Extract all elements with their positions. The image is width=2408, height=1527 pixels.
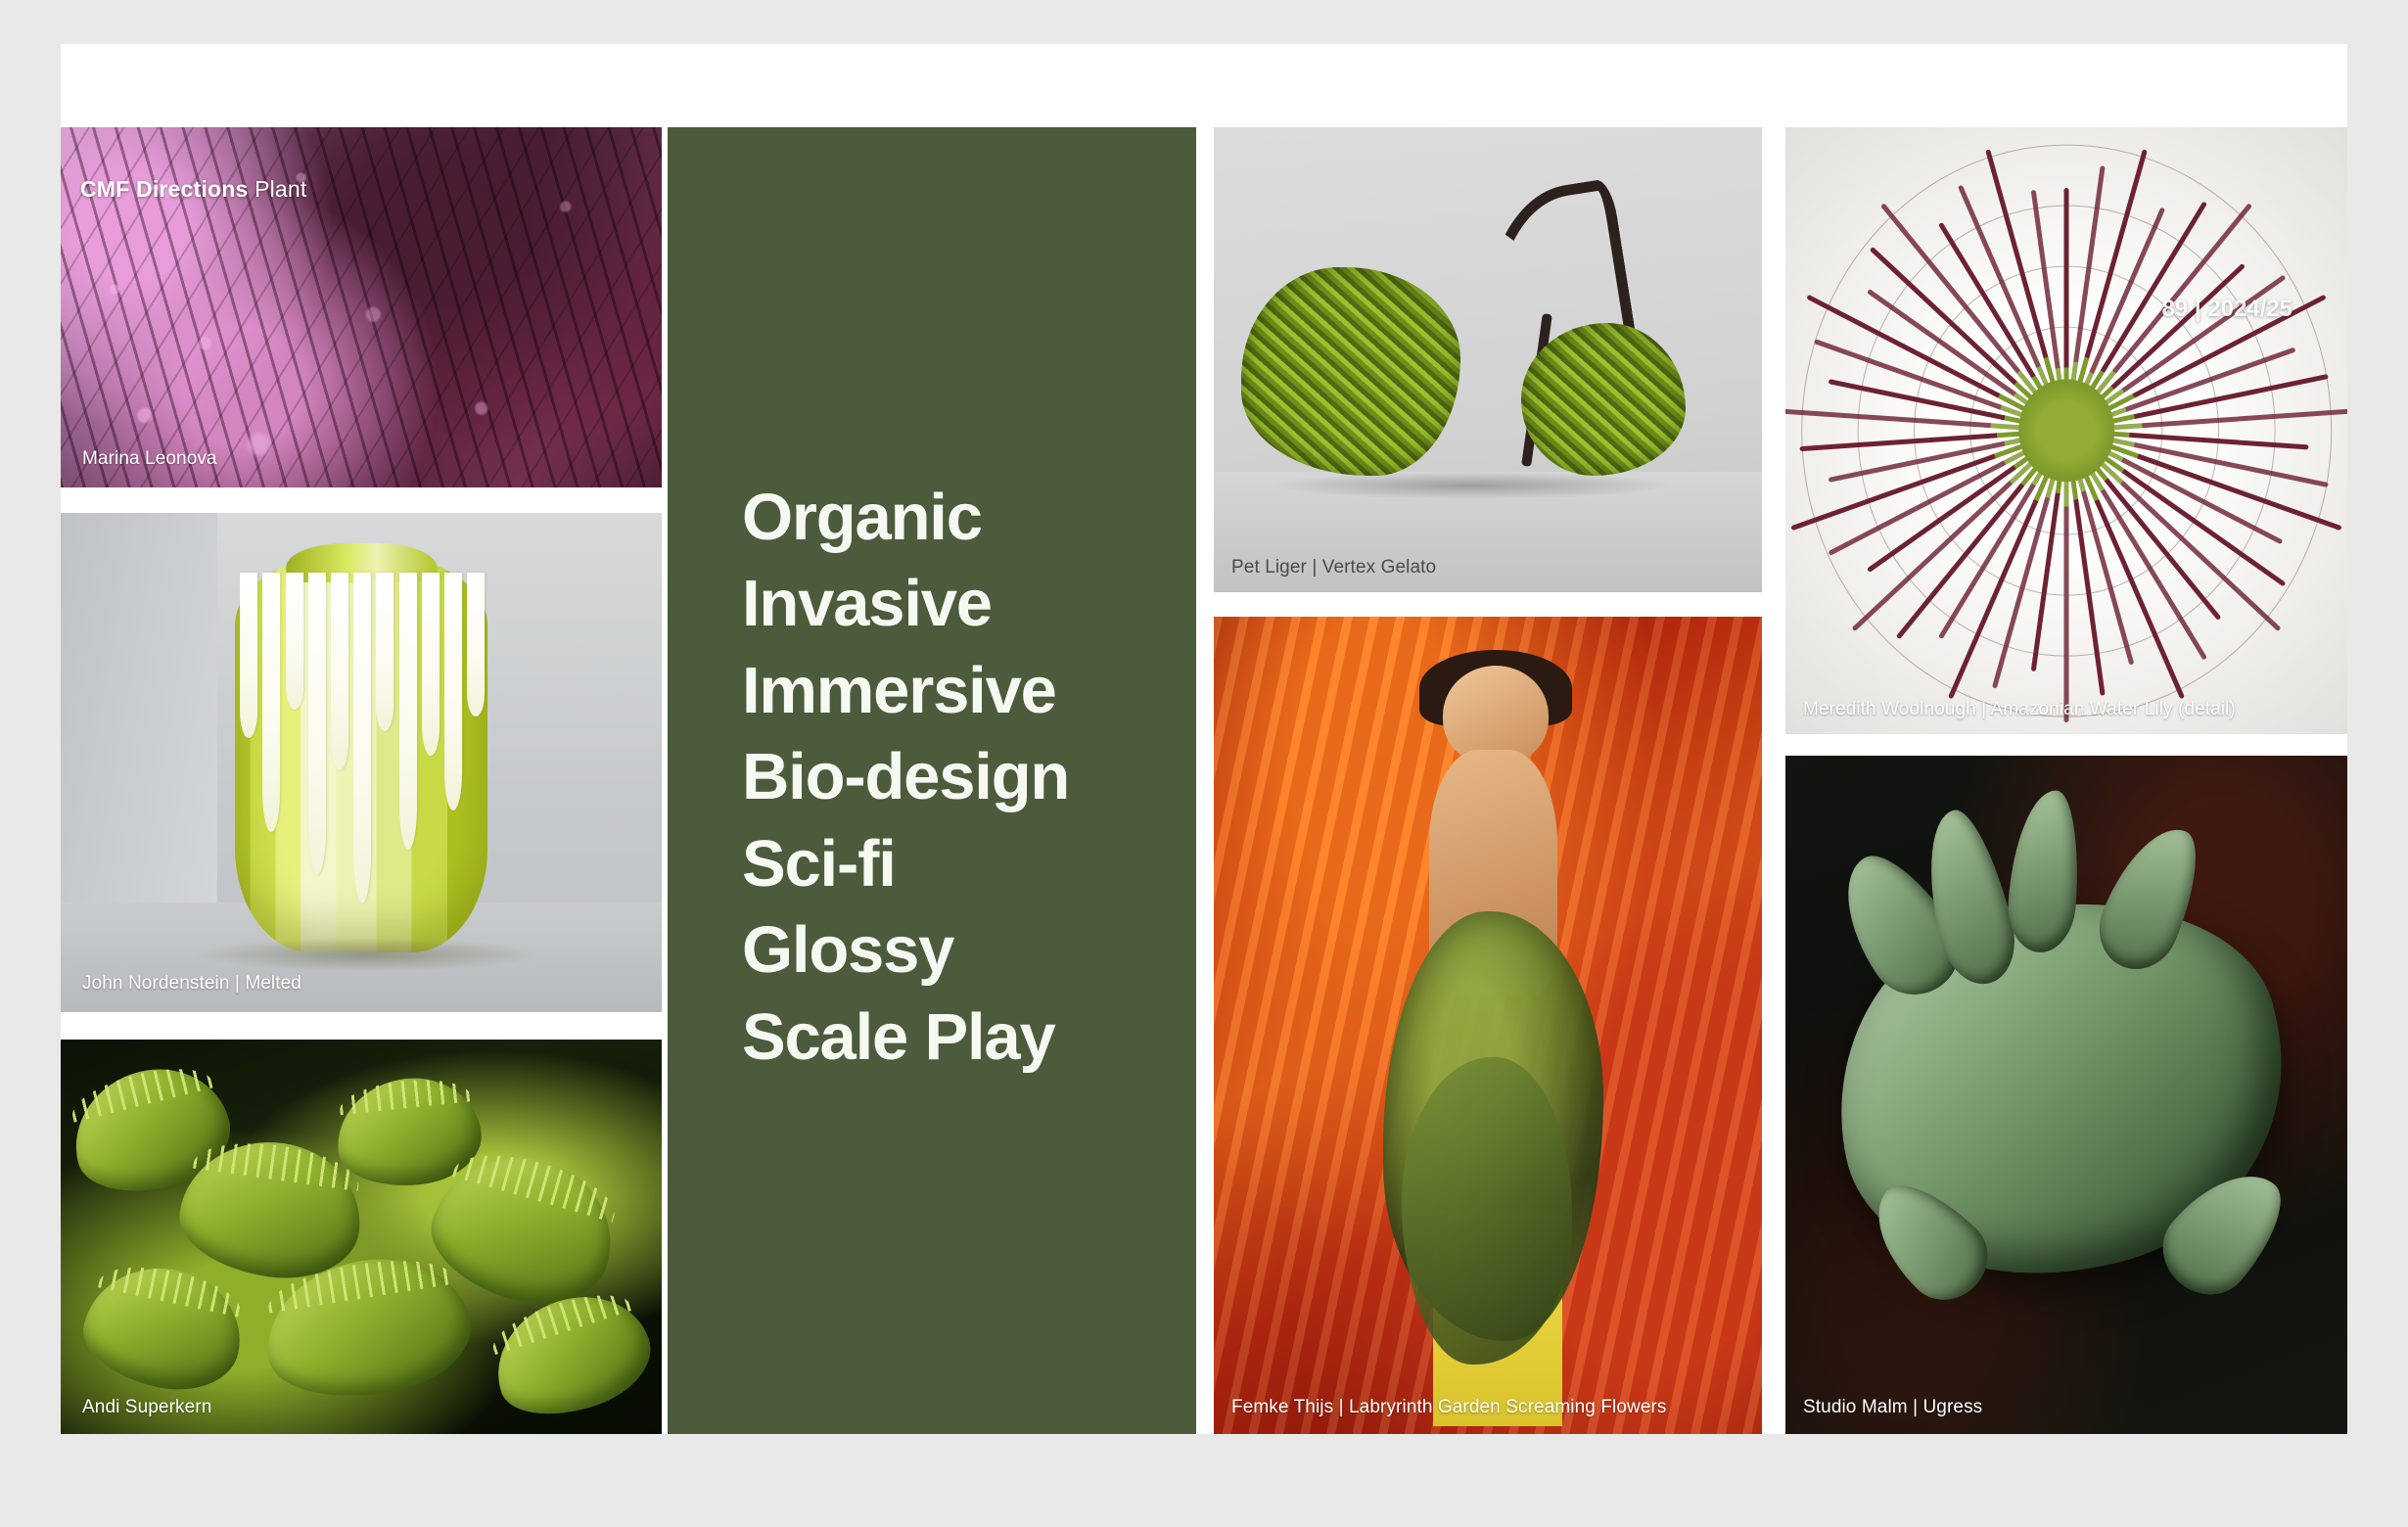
caption-water-lily-detail: Meredith Woolnough | Amazonian Water Lil… [1803,700,2347,720]
page-title-bold: CMF Directions [80,176,248,202]
caption-moss-shoe: Pet Liger | Vertex Gelato [1231,558,1762,578]
folio-number: 89 | 2024/25 [2162,296,2293,323]
keyword-list: Organic Invasive Immersive Bio-design Sc… [742,475,1069,1081]
image-tile-water-lily-detail[interactable]: 89 | 2024/25 Meredith Woolnough | Amazon… [1785,127,2347,734]
caption-fashion-editorial: Femke Thijs | Labryrinth Garden Screamin… [1231,1398,1762,1418]
image-tile-venus-flytrap[interactable]: ColourHive Andi Superkern [61,1040,662,1434]
image-tile-fashion-editorial[interactable]: Femke Thijs | Labryrinth Garden Screamin… [1214,617,1762,1434]
melted-vase-image [61,513,662,1012]
image-tile-moss-shoe[interactable]: Pet Liger | Vertex Gelato [1214,127,1762,592]
moss-shoe-image [1214,127,1762,592]
moodboard-page: Marina Leonova John Nordenstein [0,0,2408,1527]
keyword-panel: Organic Invasive Immersive Bio-design Sc… [668,127,1196,1434]
page-title-light: Plant [255,176,306,202]
venus-flytrap-image [61,1040,662,1434]
caption-melted-vase: John Nordenstein | Melted [82,974,662,995]
keyword-item: Scale Play [742,995,1069,1081]
keyword-item: Bio-design [742,734,1069,820]
green-sculpture-image [1785,756,2347,1434]
page-title: CMF Directions Plant [80,176,307,203]
caption-venus-flytrap: Andi Superkern [82,1398,662,1418]
keyword-item: Invasive [742,561,1069,647]
keyword-item: Immersive [742,648,1069,734]
keyword-item: Sci-fi [742,821,1069,907]
keyword-item: Glossy [742,907,1069,994]
caption-purple-leaf-macro: Marina Leonova [82,449,662,470]
fashion-editorial-image [1214,617,1762,1434]
image-tile-melted-vase[interactable]: John Nordenstein | Melted [61,513,662,1012]
image-tile-green-sculpture[interactable]: © Colour Hive 2023 Studio Malm | Ugress [1785,756,2347,1434]
water-lily-detail-image [1785,127,2347,734]
caption-green-sculpture: Studio Malm | Ugress [1803,1398,2347,1418]
keyword-item: Organic [742,475,1069,561]
